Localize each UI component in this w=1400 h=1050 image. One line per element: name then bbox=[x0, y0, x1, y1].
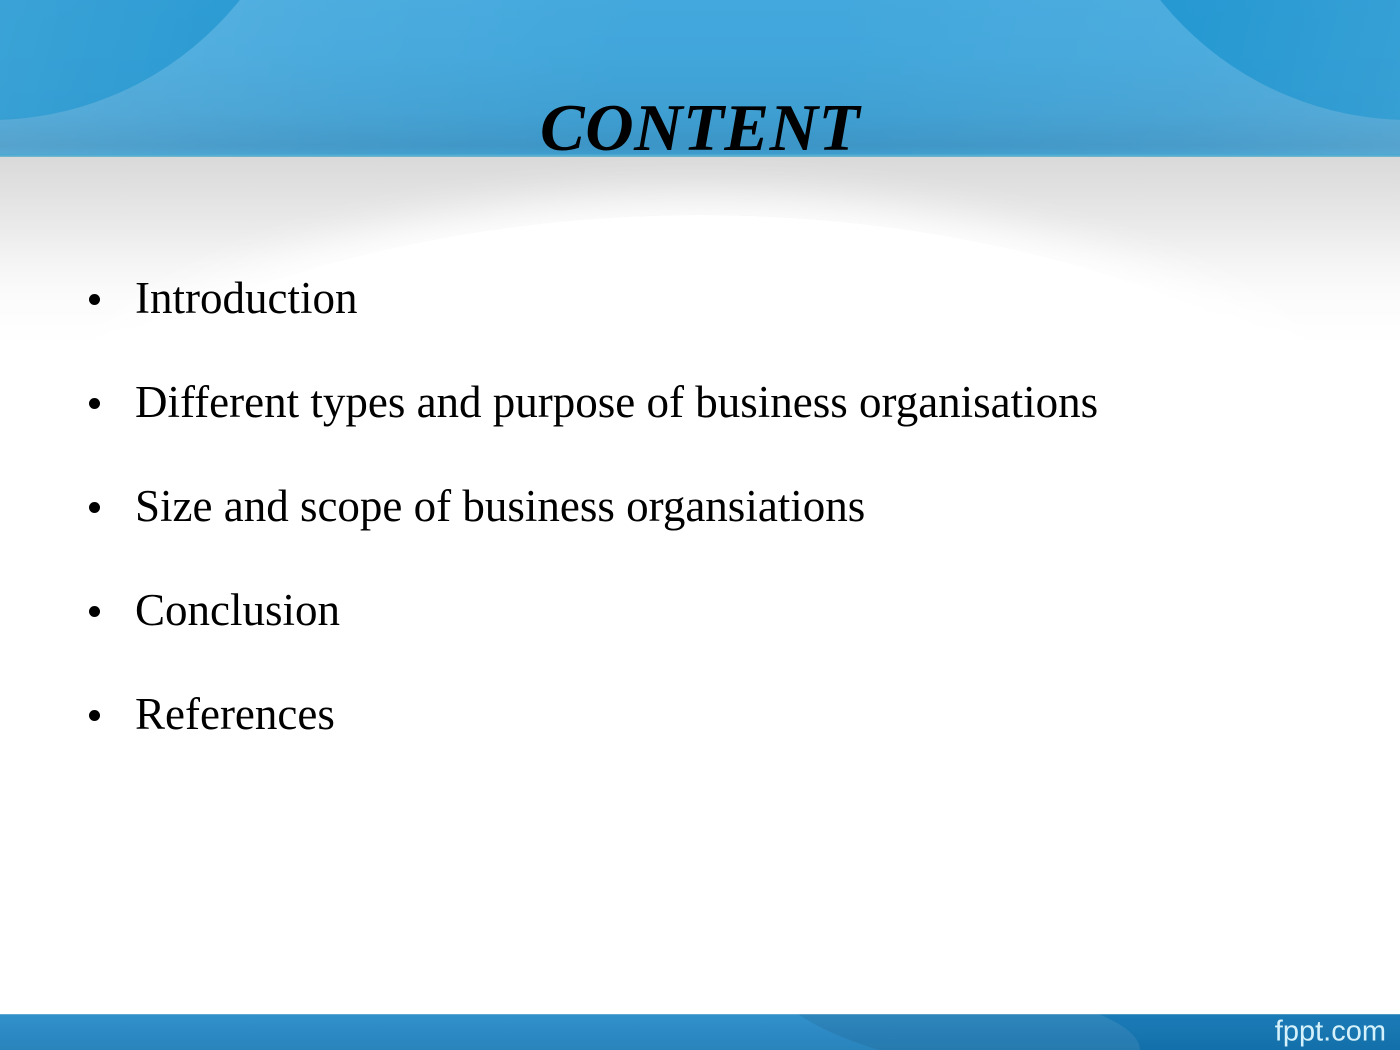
list-item: Size and scope of business organsiations bbox=[0, 484, 1330, 529]
bullet-dot-icon bbox=[89, 502, 100, 513]
footer-top-divider bbox=[0, 1014, 1400, 1015]
bullet-dot-icon bbox=[89, 398, 100, 409]
list-item: Introduction bbox=[0, 276, 1330, 321]
bullet-dot-icon bbox=[89, 710, 100, 721]
fppt-watermark: fppt.com bbox=[1275, 1018, 1386, 1047]
presentation-slide: CONTENT Introduction Different types and… bbox=[0, 0, 1400, 1050]
list-item-label: Introduction bbox=[135, 273, 357, 323]
list-item-label: Conclusion bbox=[135, 585, 340, 635]
bullet-dot-icon bbox=[89, 294, 100, 305]
list-item: Conclusion bbox=[0, 588, 1330, 633]
list-item-label: References bbox=[135, 689, 335, 739]
list-item: Different types and purpose of business … bbox=[0, 380, 1330, 425]
bullet-dot-icon bbox=[89, 606, 100, 617]
list-item-label: Different types and purpose of business … bbox=[135, 377, 1098, 427]
list-item-label: Size and scope of business organsiations bbox=[135, 481, 865, 531]
content-bullet-list: Introduction Different types and purpose… bbox=[0, 276, 1330, 737]
list-item: References bbox=[0, 692, 1330, 737]
slide-footer-band: fppt.com bbox=[0, 1014, 1400, 1050]
slide-title: CONTENT bbox=[0, 95, 1400, 162]
